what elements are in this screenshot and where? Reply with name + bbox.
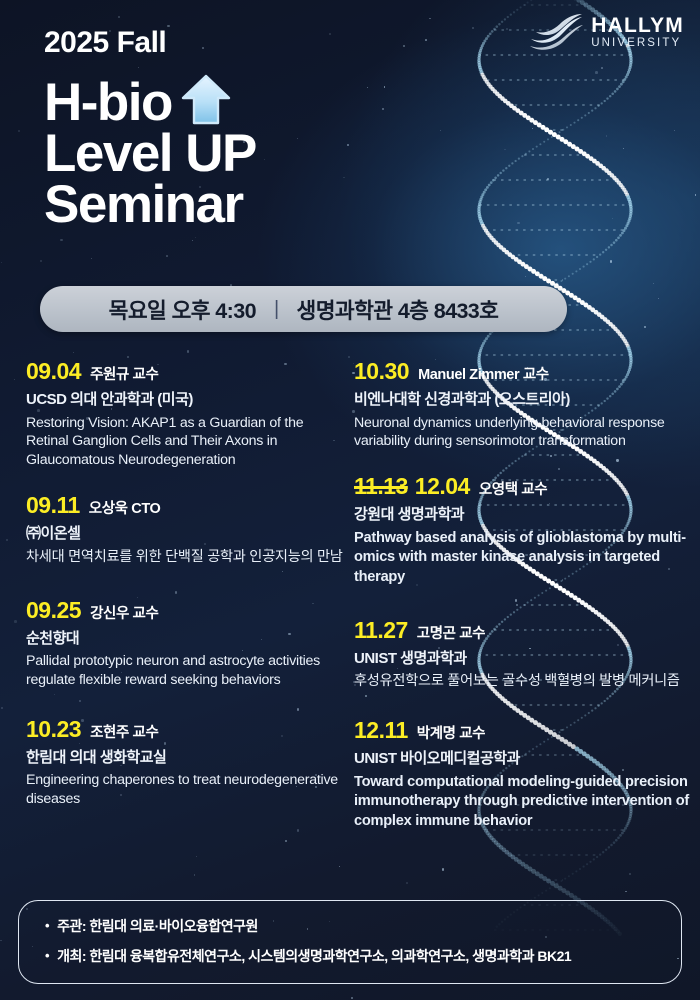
entry-talk-title: Pallidal prototypic neuron and astrocyte… [26, 652, 348, 690]
seminar-poster: HALLYM UNIVERSITY 2025 Fall H-bio Level … [0, 0, 700, 1000]
entry-affiliation: 순천향대 [26, 629, 348, 649]
entry-date-cancelled: 11.13 [354, 473, 408, 500]
footer-text: 개최: 한림대 융복합유전체연구소, 시스템의생명과학연구소, 의과학연구소, … [57, 946, 571, 967]
entry-speaker: 고명곤 교수 [417, 622, 485, 643]
entry-speaker: 주원규 교수 [90, 363, 158, 384]
entry-header: 09.04주원규 교수 [26, 358, 348, 385]
seminar-entry: 12.11박계명 교수UNIST 바이오메디컬공학과Toward computa… [354, 717, 690, 831]
footer-line: • 주관: 한림대 의료·바이오융합연구원 [45, 916, 655, 937]
title-line-2: Level UP [44, 129, 256, 180]
entry-header: 09.11오상욱 CTO [26, 492, 348, 519]
organizer-footer: • 주관: 한림대 의료·바이오융합연구원 • 개최: 한림대 융복합유전체연구… [18, 900, 682, 984]
entry-affiliation: 한림대 의대 생화학교실 [26, 748, 348, 768]
logo-subtitle: UNIVERSITY [591, 38, 684, 50]
seminar-entry: 11.1312.04오영택 교수강원대 생명과학과Pathway based a… [354, 473, 690, 587]
entry-talk-title: Restoring Vision: AKAP1 as a Guardian of… [26, 414, 348, 471]
entry-talk-title: Pathway based analysis of glioblastoma b… [354, 529, 690, 587]
title-line-1: H-bio [44, 78, 172, 129]
seminar-entry: 09.11오상욱 CTO㈜이온셀차세대 면역치료를 위한 단백질 공학과 인공지… [26, 492, 348, 566]
entry-talk-title: Neuronal dynamics underlying behavioral … [354, 414, 690, 452]
entry-header: 10.23조현주 교수 [26, 716, 348, 743]
entry-speaker: 조현주 교수 [90, 721, 158, 742]
entry-speaker: 박계명 교수 [417, 722, 485, 743]
entry-talk-title: Engineering chaperones to treat neurodeg… [26, 771, 348, 809]
entry-speaker: 오상욱 CTO [89, 497, 161, 518]
schedule-column-right: 10.30Manuel Zimmer 교수비엔나대학 신경과학과 (오스트리아)… [354, 358, 690, 835]
entry-header: 09.25강신우 교수 [26, 597, 348, 624]
entry-speaker: 오영택 교수 [479, 478, 547, 499]
seminar-entry: 09.04주원규 교수UCSD 의대 안과학과 (미국)Restoring Vi… [26, 358, 348, 470]
seminar-entry: 10.23조현주 교수한림대 의대 생화학교실Engineering chape… [26, 716, 348, 809]
seminar-time: 목요일 오후 4:30 [109, 294, 256, 325]
info-separator: | [274, 298, 279, 321]
hallym-logo: HALLYM UNIVERSITY [528, 12, 684, 52]
seminar-entry: 11.27고명곤 교수UNIST 생명과학과후성유전학으로 풀어보는 골수성 백… [354, 617, 690, 691]
season-label: 2025 Fall [44, 26, 166, 60]
entry-date: 12.04 [415, 473, 470, 500]
entry-date: 10.30 [354, 358, 409, 385]
entry-affiliation: UNIST 바이오메디컬공학과 [354, 749, 690, 769]
entry-talk-title: Toward computational modeling-guided pre… [354, 773, 690, 831]
entry-affiliation: 비엔나대학 신경과학과 (오스트리아) [354, 390, 690, 410]
entry-date: 11.27 [354, 617, 408, 644]
footer-text: 주관: 한림대 의료·바이오융합연구원 [57, 916, 258, 937]
seminar-location: 생명과학관 4층 8433호 [297, 294, 499, 325]
entry-header: 12.11박계명 교수 [354, 717, 690, 744]
entry-date: 10.23 [26, 716, 81, 743]
entry-affiliation: 강원대 생명과학과 [354, 505, 690, 525]
entry-date: 12.11 [354, 717, 408, 744]
bullet-icon: • [45, 946, 49, 966]
entry-date: 09.04 [26, 358, 81, 385]
entry-affiliation: UNIST 생명과학과 [354, 649, 690, 669]
entry-affiliation: ㈜이온셀 [26, 524, 348, 544]
entry-date: 09.11 [26, 492, 80, 519]
entry-affiliation: UCSD 의대 안과학과 (미국) [26, 390, 348, 410]
entry-talk-title: 후성유전학으로 풀어보는 골수성 백혈병의 발병 메커니즘 [354, 672, 690, 691]
entry-speaker: Manuel Zimmer 교수 [418, 363, 549, 384]
seminar-entry: 09.25강신우 교수순천향대Pallidal prototypic neuro… [26, 597, 348, 690]
footer-line: • 개최: 한림대 융복합유전체연구소, 시스템의생명과학연구소, 의과학연구소… [45, 946, 655, 967]
hallym-wave-logo-icon [528, 12, 584, 52]
entry-header: 11.27고명곤 교수 [354, 617, 690, 644]
title-line-3: Seminar [44, 180, 256, 231]
schedule-info-banner: 목요일 오후 4:30 | 생명과학관 4층 8433호 [40, 286, 567, 332]
entry-header: 10.30Manuel Zimmer 교수 [354, 358, 690, 385]
bullet-icon: • [45, 916, 49, 936]
entry-date: 09.25 [26, 597, 81, 624]
schedule-column-left: 09.04주원규 교수UCSD 의대 안과학과 (미국)Restoring Vi… [26, 358, 348, 835]
entry-talk-title: 차세대 면역치료를 위한 단백질 공학과 인공지능의 만남 [26, 548, 348, 567]
page-title: H-bio Level UP Seminar [44, 78, 256, 231]
logo-name: HALLYM [591, 15, 684, 36]
seminar-entry: 10.30Manuel Zimmer 교수비엔나대학 신경과학과 (오스트리아)… [354, 358, 690, 451]
entry-speaker: 강신우 교수 [90, 602, 158, 623]
entry-header: 11.1312.04오영택 교수 [354, 473, 690, 500]
seminar-schedule: 09.04주원규 교수UCSD 의대 안과학과 (미국)Restoring Vi… [26, 358, 690, 835]
up-arrow-icon [178, 72, 234, 128]
